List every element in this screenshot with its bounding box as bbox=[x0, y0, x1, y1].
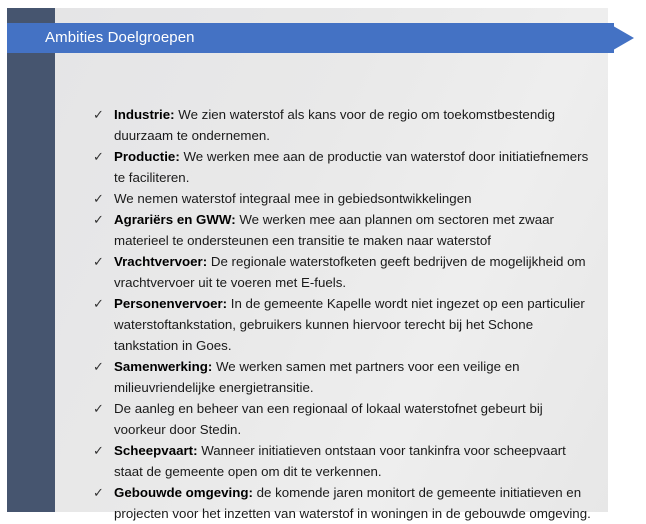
check-icon: ✓ bbox=[93, 293, 107, 314]
check-icon: ✓ bbox=[93, 482, 107, 503]
list-item: ✓De aanleg en beheer van een regionaal o… bbox=[92, 398, 592, 440]
list-item-lead: Agrariërs en GWW: bbox=[114, 212, 236, 227]
list-item: ✓Vrachtvervoer: De regionale waterstofke… bbox=[92, 251, 592, 293]
list-item: ✓Productie: We werken mee aan de product… bbox=[92, 146, 592, 188]
list-item: ✓We nemen waterstof integraal mee in geb… bbox=[92, 188, 592, 209]
list-item-lead: Vrachtvervoer: bbox=[114, 254, 207, 269]
list-item-lead: Samenwerking: bbox=[114, 359, 212, 374]
list-item-text: We nemen waterstof integraal mee in gebi… bbox=[114, 191, 472, 206]
list-item-lead: Gebouwde omgeving: bbox=[114, 485, 253, 500]
check-icon: ✓ bbox=[93, 251, 107, 272]
check-icon: ✓ bbox=[93, 440, 107, 461]
sidebar-accent-bar bbox=[7, 8, 55, 512]
slide-canvas: Ambities Doelgroepen ✓Industrie: We zien… bbox=[0, 0, 646, 523]
list-item-lead: Personenvervoer: bbox=[114, 296, 227, 311]
page-title: Ambities Doelgroepen bbox=[45, 23, 195, 53]
list-item-text: We zien waterstof als kans voor de regio… bbox=[114, 107, 555, 143]
list-item-lead: Scheepvaart: bbox=[114, 443, 198, 458]
check-icon: ✓ bbox=[93, 398, 107, 419]
list-item: ✓Agrariërs en GWW: We werken mee aan pla… bbox=[92, 209, 592, 251]
check-icon: ✓ bbox=[93, 209, 107, 230]
list-item: ✓Gebouwde omgeving: de komende jaren mon… bbox=[92, 482, 592, 524]
bullet-list: ✓Industrie: We zien waterstof als kans v… bbox=[92, 104, 592, 524]
list-item-text: De aanleg en beheer van een regionaal of… bbox=[114, 401, 543, 437]
check-icon: ✓ bbox=[93, 188, 107, 209]
list-item-text: We werken mee aan de productie van water… bbox=[114, 149, 588, 185]
list-item: ✓Scheepvaart: Wanneer initiatieven ontst… bbox=[92, 440, 592, 482]
check-icon: ✓ bbox=[93, 146, 107, 167]
check-icon: ✓ bbox=[93, 356, 107, 377]
list-item-lead: Productie: bbox=[114, 149, 180, 164]
list-item-lead: Industrie: bbox=[114, 107, 175, 122]
check-icon: ✓ bbox=[93, 104, 107, 125]
list-item: ✓Samenwerking: We werken samen met partn… bbox=[92, 356, 592, 398]
list-item: ✓Personenvervoer: In de gemeente Kapelle… bbox=[92, 293, 592, 356]
banner-arrow-icon bbox=[608, 23, 634, 53]
list-item: ✓Industrie: We zien waterstof als kans v… bbox=[92, 104, 592, 146]
